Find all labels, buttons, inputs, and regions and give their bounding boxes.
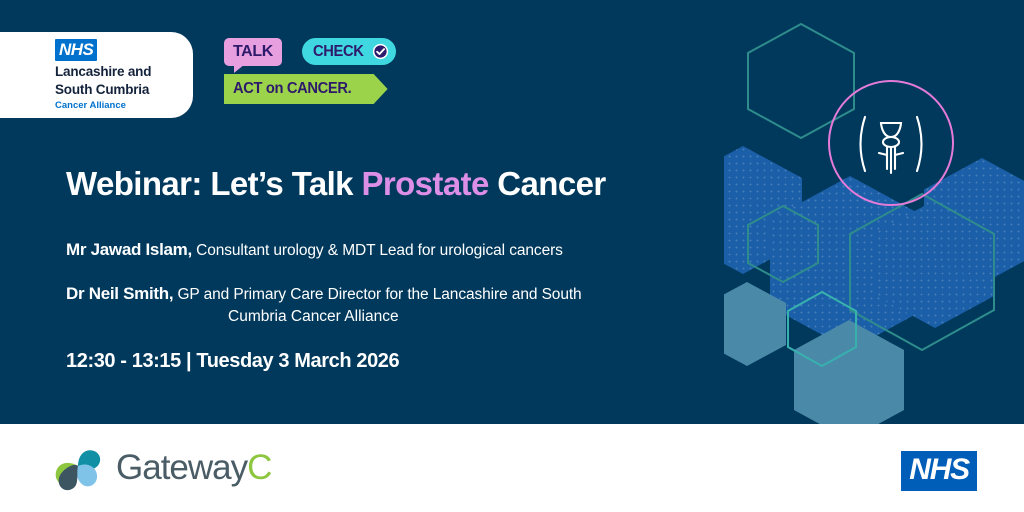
hexagon-outline-icon bbox=[848, 192, 996, 352]
speaker-role-continued: Cumbria Cancer Alliance bbox=[228, 308, 582, 326]
act-label: ACT on CANCER. bbox=[233, 81, 351, 97]
webinar-promo-banner: NHS Lancashire and South Cumbria Cancer … bbox=[0, 0, 1024, 512]
gatewayc-word-c: C bbox=[247, 448, 271, 487]
nhs-badge-text: NHS bbox=[55, 39, 97, 61]
hexagon-filled-icon bbox=[794, 320, 904, 424]
speaker-role: Consultant urology & MDT Lead for urolog… bbox=[192, 242, 563, 259]
speaker-role: GP and Primary Care Director for the Lan… bbox=[173, 286, 581, 303]
speaker-entry: Mr Jawad Islam, Consultant urology & MDT… bbox=[66, 240, 563, 260]
event-datetime: 12:30 - 13:15 | Tuesday 3 March 2026 bbox=[66, 350, 399, 373]
hexagon-cluster bbox=[724, 0, 1024, 424]
alliance-line-2: South Cumbria bbox=[55, 83, 151, 98]
nhs-logo: NHS bbox=[901, 451, 977, 491]
speaker-name: Mr Jawad Islam, bbox=[66, 240, 192, 259]
footer-bar: GatewayC NHS bbox=[0, 424, 1024, 512]
talk-label: TALK bbox=[233, 43, 273, 60]
speaker-name: Dr Neil Smith, bbox=[66, 284, 173, 303]
hexagon-filled-icon bbox=[724, 146, 802, 274]
gatewayc-word-gateway: Gateway bbox=[116, 448, 247, 487]
talk-check-act-logo: TALK CHECK ACT on CANCER. bbox=[224, 38, 384, 110]
gatewayc-wordmark: GatewayC bbox=[116, 450, 271, 486]
speech-tail-icon bbox=[234, 64, 245, 73]
nhs-lancashire-logo: NHS Lancashire and South Cumbria Cancer … bbox=[0, 32, 193, 118]
talk-bubble: TALK bbox=[224, 38, 282, 66]
title-accent: Prostate bbox=[361, 165, 488, 202]
act-banner: ACT on CANCER. bbox=[224, 74, 388, 104]
hexagon-outline-icon bbox=[786, 290, 858, 368]
check-pill: CHECK bbox=[302, 38, 396, 65]
alliance-line-1: Lancashire and bbox=[55, 65, 151, 80]
gatewayc-logo: GatewayC bbox=[50, 442, 271, 494]
hexagon-filled-icon bbox=[724, 282, 786, 366]
alliance-line-3: Cancer Alliance bbox=[55, 100, 151, 112]
prostate-anatomy-icon bbox=[828, 80, 954, 206]
gatewayc-pinwheel-icon bbox=[50, 442, 106, 494]
check-circle-icon bbox=[372, 43, 389, 60]
hexagon-filled-icon bbox=[876, 200, 994, 328]
speaker-entry: Dr Neil Smith, GP and Primary Care Direc… bbox=[66, 284, 582, 326]
hexagon-outline-icon bbox=[746, 204, 820, 284]
check-label: CHECK bbox=[313, 44, 364, 60]
page-title: Webinar: Let’s Talk Prostate Cancer bbox=[66, 165, 606, 203]
title-suffix: Cancer bbox=[489, 165, 606, 202]
title-prefix: Webinar: Let’s Talk bbox=[66, 165, 361, 202]
